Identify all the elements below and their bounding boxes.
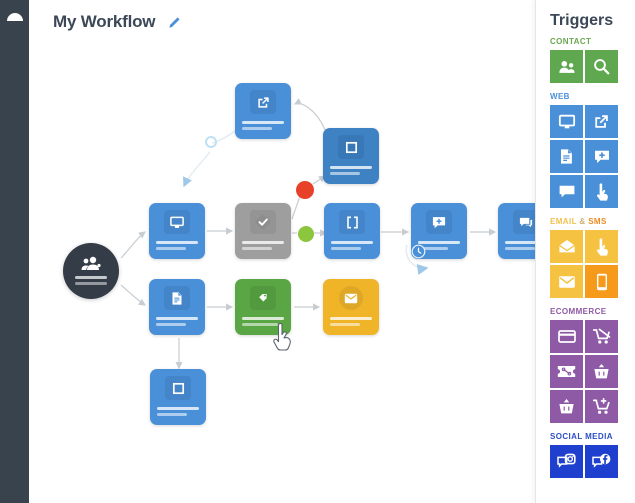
group-label-email-sms: EMAIL & SMS [550,217,635,226]
trigger-contact-added[interactable] [550,50,583,83]
trigger-tile-grid [550,50,635,83]
node-text-line [242,247,272,250]
trigger-page-visit[interactable] [550,105,583,138]
node-text-line [156,317,198,320]
node-text-line [157,413,187,416]
message-plus-icon [426,210,452,234]
message-plus-icon [593,149,611,165]
trigger-button-click[interactable] [585,175,618,208]
trigger-tile-grid [550,230,635,298]
group-label-web: WEB [550,92,635,101]
trigger-form-submit[interactable] [550,140,583,173]
cart-crossed-icon [593,328,611,345]
status-dot-failure[interactable] [296,181,314,199]
trigger-cart-abandoned[interactable] [585,320,618,353]
triggers-panel: Triggers CONTACT [535,0,635,503]
group-label-part-email: EMAIL [550,217,577,226]
search-icon [593,58,610,75]
panel-title: Triggers [550,12,635,30]
trigger-link-click[interactable] [585,105,618,138]
node-text-line [331,247,361,250]
arc-logo-icon[interactable] [4,6,26,22]
condition-node[interactable] [324,203,380,259]
page-title: My Workflow [53,12,155,32]
node-text-line [242,317,284,320]
instagram-chat-icon [557,453,576,470]
basket-icon [558,398,575,415]
trigger-chat-started[interactable] [585,140,618,173]
facebook-chat-icon [592,453,611,470]
users-icon [80,256,102,276]
cart-plus-icon [593,398,611,415]
document-icon [164,286,190,310]
node-text-line [156,241,198,244]
open-envelope-icon [558,239,576,254]
node-text-line [330,323,360,326]
node-text-line [75,282,107,285]
trigger-purchase[interactable] [550,320,583,353]
users-icon [558,60,576,74]
node-text-line [330,166,372,169]
popup-window-node-2[interactable] [150,369,206,425]
square-frame-icon [165,376,191,400]
trigger-group-contact: CONTACT [550,37,635,83]
trigger-email-received[interactable] [550,265,583,298]
trigger-basket-added[interactable] [550,390,583,423]
group-label-contact: CONTACT [550,37,635,46]
group-label-ecommerce: ECOMMERCE [550,307,635,316]
credit-card-icon [558,330,576,343]
trigger-tile-grid [550,320,635,423]
trigger-email-clicked[interactable] [585,230,618,263]
node-text-line [242,241,284,244]
brackets-icon [339,210,365,234]
trigger-group-email-sms: EMAIL & SMS [550,217,635,298]
workflow-canvas[interactable]: My Workflow [29,0,535,503]
trigger-coupon-used[interactable] [550,355,583,388]
node-text-line [505,247,535,250]
check-diamond-icon [250,210,276,234]
external-link-icon [250,90,276,114]
trigger-tile-grid [550,445,635,478]
basket-up-icon [593,363,610,380]
node-text-line [331,241,373,244]
clock-icon [411,244,426,259]
trigger-basket-checkout[interactable] [585,355,618,388]
node-text-line [330,172,360,175]
node-text-line [330,317,372,320]
document-icon [559,148,574,165]
trigger-contact-search[interactable] [585,50,618,83]
envelope-icon [558,275,576,289]
node-text-line [157,407,199,410]
trigger-email-opened[interactable] [550,230,583,263]
coupon-icon [557,365,576,378]
contact-audience-node[interactable] [63,243,119,299]
popup-window-node[interactable] [323,128,379,184]
pencil-edit-icon[interactable] [167,16,181,30]
trigger-cart-added[interactable] [585,390,618,423]
node-text-line [75,276,107,279]
trigger-group-ecommerce: ECOMMERCE [550,307,635,423]
node-text-line [242,127,272,130]
trigger-chat-message[interactable] [550,175,583,208]
node-text-line [505,241,535,244]
trigger-facebook[interactable] [585,445,618,478]
node-text-line [156,323,186,326]
workflow-builder-app: My Workflow [0,0,635,503]
page-visit-node[interactable] [149,203,205,259]
trigger-instagram[interactable] [550,445,583,478]
monitor-icon [164,210,190,234]
node-text-line [156,247,186,250]
status-dot-pending[interactable] [205,136,217,148]
goal-check-node[interactable] [235,203,291,259]
trigger-group-web: WEB [550,92,635,208]
tag-icon [250,286,276,310]
chat-node[interactable] [498,203,535,259]
node-text-line [242,121,284,124]
external-link-node[interactable] [235,83,291,139]
trigger-group-social-media: SOCIAL MEDIA [550,432,635,478]
group-label-social-media: SOCIAL MEDIA [550,432,635,441]
chat-bubble-icon [513,210,535,234]
form-submit-node[interactable] [149,279,205,335]
envelope-circle-icon [339,286,363,310]
group-label-part-amp: & [577,217,588,226]
status-dot-success[interactable] [298,226,314,242]
mobile-phone-icon [596,273,608,291]
trigger-tile-grid [550,105,635,208]
monitor-icon [558,114,576,130]
square-frame-icon [338,135,364,159]
trigger-sms-received[interactable] [585,265,618,298]
external-link-icon [593,113,610,130]
pointer-hand-icon [595,238,609,256]
group-label-part-sms: SMS [588,217,607,226]
send-email-node[interactable] [323,279,379,335]
pointer-hand-cursor [272,323,294,351]
chat-bubble-icon [558,184,576,199]
left-nav-rail [0,0,29,503]
pointer-hand-icon [595,183,609,201]
